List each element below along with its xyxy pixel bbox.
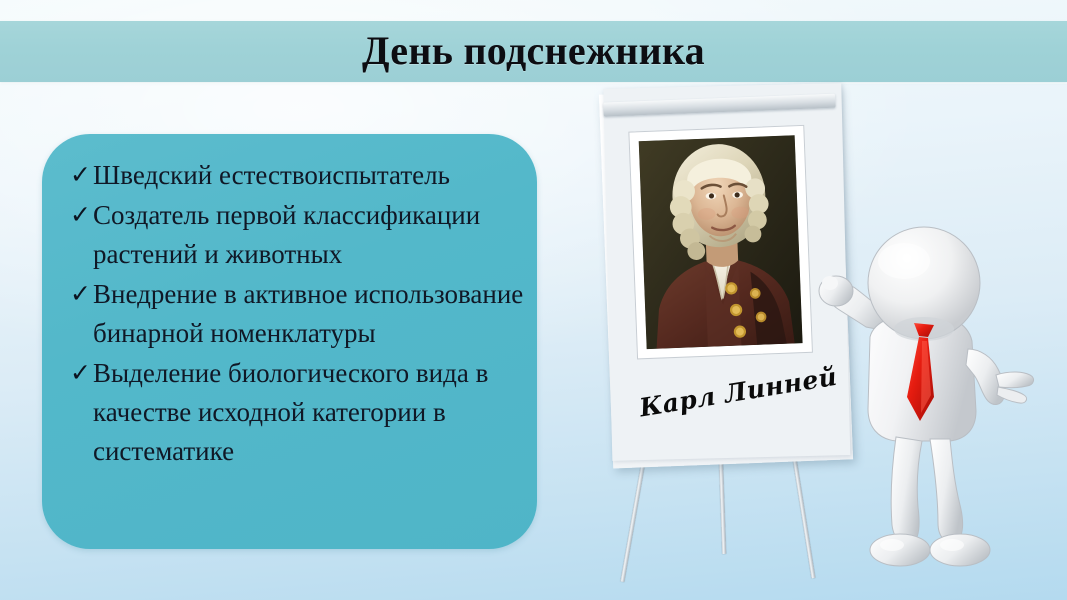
list-item: ✓ Выделение биологического вида в качест… xyxy=(70,354,530,471)
checkmark-icon: ✓ xyxy=(70,195,93,234)
list-item: ✓ Шведский естествоиспытатель xyxy=(70,156,530,195)
presenter-illustration xyxy=(800,225,1050,585)
list-item-label: Шведский естествоиспытатель xyxy=(93,156,530,195)
list-item: ✓ Создатель первой классификации растени… xyxy=(70,196,530,274)
presenter-figure-icon xyxy=(800,225,1050,585)
checkmark-icon: ✓ xyxy=(70,353,93,392)
list-item-label: Внедрение в активное использование бинар… xyxy=(93,275,530,353)
presentation-slide: День подснежника ✓ Шведский естествоиспы… xyxy=(0,0,1067,600)
list-item-label: Создатель первой классификации растений … xyxy=(93,196,530,274)
checkmark-icon: ✓ xyxy=(70,274,93,313)
portrait-illustration xyxy=(639,135,803,349)
page-title: День подснежника xyxy=(0,21,1067,82)
checkmark-icon: ✓ xyxy=(70,155,93,194)
list-item: ✓ Внедрение в активное использование бин… xyxy=(70,275,530,353)
portrait-frame xyxy=(628,125,813,360)
list-item-label: Выделение биологического вида в качестве… xyxy=(93,354,530,471)
bullet-list: ✓ Шведский естествоиспытатель ✓ Создател… xyxy=(70,156,530,472)
portrait-image xyxy=(639,135,803,349)
